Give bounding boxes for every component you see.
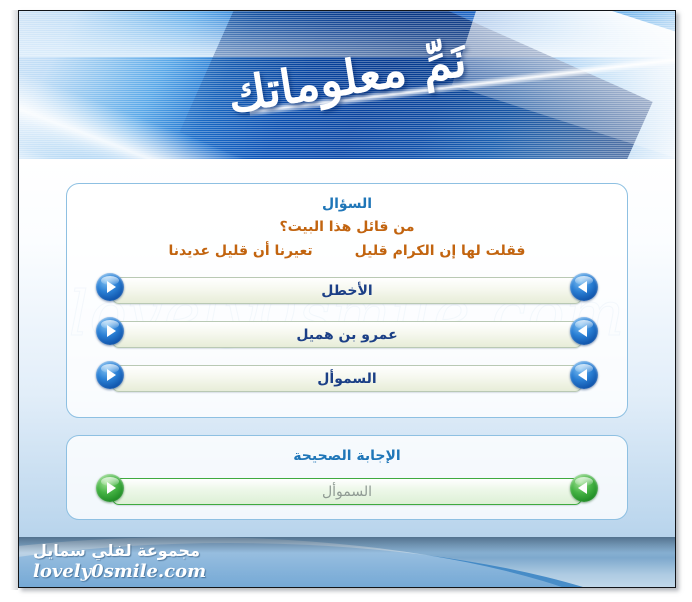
footer-credit: مجموعة لفلي سمايل lovely0smile.com	[33, 541, 206, 583]
option-row[interactable]: الأخطل	[96, 273, 598, 309]
footer-banner: مجموعة لفلي سمايل lovely0smile.com	[19, 537, 675, 588]
correct-play-left-arrow-icon[interactable]	[570, 474, 598, 502]
option-play-right-arrow-icon[interactable]	[96, 317, 124, 345]
verse-second-hemistich: فقلت لها إن الكرام قليل	[355, 243, 526, 259]
quiz-screen: نَمِّ معلوماتك lovely0smile.com السؤال م…	[0, 0, 692, 602]
quiz-window-frame: نَمِّ معلوماتك lovely0smile.com السؤال م…	[18, 10, 676, 588]
verse-row: فقلت لها إن الكرام قليل تعيرنا أن قليل ع…	[67, 243, 627, 259]
verse-first-hemistich: تعيرنا أن قليل عديدنا	[169, 243, 313, 259]
footer-arabic-label: مجموعة لفلي سمايل	[33, 541, 206, 561]
correct-answer-list: السموأل	[67, 474, 627, 510]
question-panel: السؤال من قائل هذا البيت؟ فقلت لها إن ال…	[66, 183, 628, 418]
option-label: عمرو بن هميل	[113, 322, 581, 349]
answer-options-list: الأخطل عمرو بن هميل	[67, 273, 627, 397]
header-banner: نَمِّ معلوماتك	[19, 11, 675, 159]
correct-answer-pill: السموأل	[112, 478, 582, 505]
option-pill[interactable]: الأخطل	[112, 277, 582, 304]
correct-answer-row: السموأل	[96, 474, 598, 510]
option-row[interactable]: عمرو بن هميل	[96, 317, 598, 353]
question-panel-title: السؤال	[67, 196, 627, 212]
window-edge-shadow	[10, 10, 18, 590]
correct-play-right-arrow-icon[interactable]	[96, 474, 124, 502]
option-play-left-arrow-icon[interactable]	[570, 273, 598, 301]
question-text: من قائل هذا البيت؟	[67, 219, 627, 235]
option-play-left-arrow-icon[interactable]	[570, 317, 598, 345]
correct-answer-label: السموأل	[113, 479, 581, 506]
option-play-right-arrow-icon[interactable]	[96, 361, 124, 389]
correct-answer-title: الإجابة الصحيحة	[67, 448, 627, 464]
option-row[interactable]: السموأل	[96, 361, 598, 397]
option-pill[interactable]: السموأل	[112, 365, 582, 392]
main-content: lovely0smile.com السؤال من قائل هذا البي…	[19, 159, 675, 537]
option-play-right-arrow-icon[interactable]	[96, 273, 124, 301]
correct-answer-panel: الإجابة الصحيحة السموأل	[66, 435, 628, 520]
option-pill[interactable]: عمرو بن هميل	[112, 321, 582, 348]
option-play-left-arrow-icon[interactable]	[570, 361, 598, 389]
footer-site-url[interactable]: lovely0smile.com	[33, 561, 206, 583]
option-label: الأخطل	[113, 278, 581, 305]
option-label: السموأل	[113, 366, 581, 393]
